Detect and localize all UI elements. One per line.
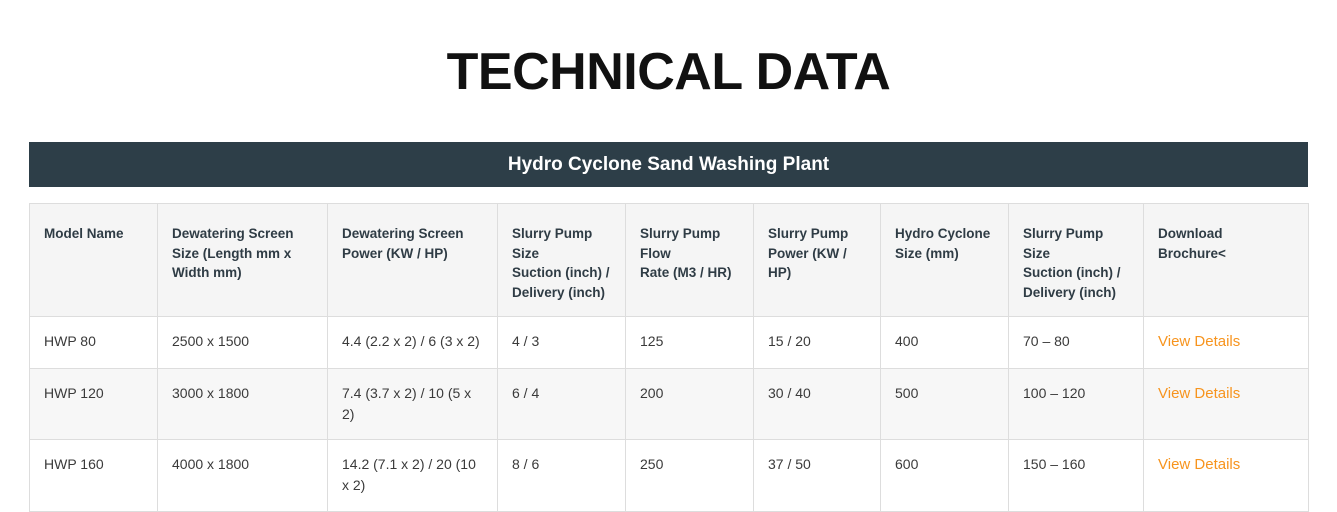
cell-slurry-pump-flow-rate: 125 [626, 317, 754, 369]
cell-hydro-cyclone-size: 500 [881, 368, 1009, 439]
cell-slurry-pump-power: 37 / 50 [754, 439, 881, 511]
cell-slurry-pump-flow-rate: 250 [626, 439, 754, 511]
cell-hydro-cyclone-size: 400 [881, 317, 1009, 369]
section-title-bar: Hydro Cyclone Sand Washing Plant [29, 142, 1308, 187]
spec-table-section: Hydro Cyclone Sand Washing Plant Model N… [29, 142, 1308, 512]
table-body: HWP 80 2500 x 1500 4.4 (2.2 x 2) / 6 (3 … [30, 317, 1309, 512]
cell-dewatering-screen-power: 7.4 (3.7 x 2) / 10 (5 x 2) [328, 368, 498, 439]
column-header-model-name: Model Name [30, 204, 158, 317]
cell-download-brochure: View Details [1144, 317, 1309, 369]
column-header-dewatering-screen-size: Dewatering Screen Size (Length mm x Widt… [158, 204, 328, 317]
cell-slurry-pump-power: 15 / 20 [754, 317, 881, 369]
cell-slurry-pump-size-2: 100 – 120 [1009, 368, 1144, 439]
section-spacer [29, 187, 1308, 203]
column-header-hydro-cyclone-size: Hydro Cyclone Size (mm) [881, 204, 1009, 317]
cell-slurry-pump-size: 8 / 6 [498, 439, 626, 511]
cell-dewatering-screen-power: 14.2 (7.1 x 2) / 20 (10 x 2) [328, 439, 498, 511]
column-header-download-brochure: Download Brochure< [1144, 204, 1309, 317]
cell-slurry-pump-size-2: 150 – 160 [1009, 439, 1144, 511]
column-header-slurry-pump-size-2: Slurry Pump Size Suction (inch) / Delive… [1009, 204, 1144, 317]
technical-data-page: TECHNICAL DATA Hydro Cyclone Sand Washin… [0, 0, 1337, 503]
view-details-link[interactable]: View Details [1158, 383, 1240, 406]
column-header-dewatering-screen-power: Dewatering Screen Power (KW / HP) [328, 204, 498, 317]
cell-download-brochure: View Details [1144, 368, 1309, 439]
cell-dewatering-screen-size: 4000 x 1800 [158, 439, 328, 511]
cell-slurry-pump-size: 6 / 4 [498, 368, 626, 439]
cell-slurry-pump-size: 4 / 3 [498, 317, 626, 369]
column-header-slurry-pump-size: Slurry Pump Size Suction (inch) / Delive… [498, 204, 626, 317]
cell-download-brochure: View Details [1144, 439, 1309, 511]
column-header-slurry-pump-power: Slurry Pump Power (KW / HP) [754, 204, 881, 317]
cell-model-name: HWP 80 [30, 317, 158, 369]
cell-model-name: HWP 120 [30, 368, 158, 439]
column-header-slurry-pump-flow-rate: Slurry Pump Flow Rate (M3 / HR) [626, 204, 754, 317]
table-row: HWP 160 4000 x 1800 14.2 (7.1 x 2) / 20 … [30, 439, 1309, 511]
view-details-link[interactable]: View Details [1158, 454, 1240, 477]
table-row: HWP 120 3000 x 1800 7.4 (3.7 x 2) / 10 (… [30, 368, 1309, 439]
table-header-row: Model Name Dewatering Screen Size (Lengt… [30, 204, 1309, 317]
table-row: HWP 80 2500 x 1500 4.4 (2.2 x 2) / 6 (3 … [30, 317, 1309, 369]
cell-slurry-pump-power: 30 / 40 [754, 368, 881, 439]
cell-dewatering-screen-power: 4.4 (2.2 x 2) / 6 (3 x 2) [328, 317, 498, 369]
table-header: Model Name Dewatering Screen Size (Lengt… [30, 204, 1309, 317]
technical-specifications-table: Model Name Dewatering Screen Size (Lengt… [29, 203, 1309, 512]
view-details-link[interactable]: View Details [1158, 331, 1240, 354]
cell-slurry-pump-flow-rate: 200 [626, 368, 754, 439]
cell-hydro-cyclone-size: 600 [881, 439, 1009, 511]
cell-dewatering-screen-size: 3000 x 1800 [158, 368, 328, 439]
cell-slurry-pump-size-2: 70 – 80 [1009, 317, 1144, 369]
cell-dewatering-screen-size: 2500 x 1500 [158, 317, 328, 369]
page-title: TECHNICAL DATA [0, 0, 1337, 101]
cell-model-name: HWP 160 [30, 439, 158, 511]
